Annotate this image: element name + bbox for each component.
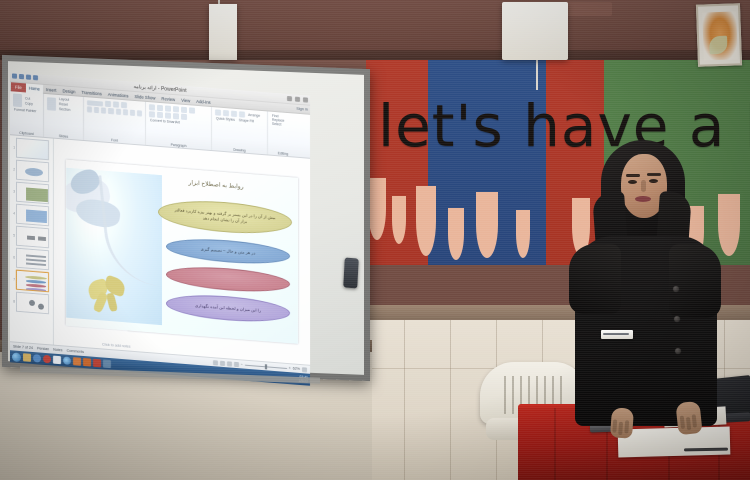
character-spacing-icon[interactable] [123,109,128,115]
section-button[interactable]: Section [58,107,71,112]
slide-thumbnail[interactable]: 4 [11,203,52,226]
quick-styles-button[interactable]: Quick Styles [215,116,236,122]
lamp-cord-large [536,56,538,90]
tab-file[interactable]: File [11,82,26,92]
notes-toggle[interactable]: Notes [53,348,62,353]
powerpoint-window[interactable]: ارائه برنامه - PowerPoint File Home Inse… [10,72,310,384]
finger [686,417,691,430]
increase-font-icon[interactable] [113,101,119,107]
slide-editing-stage[interactable]: روابط به اصطلاح ابزار بیش از آن را در ای… [54,139,310,365]
slide-bullet-ellipse-2[interactable]: در هر متن و حال – تصمیم گیری [166,235,290,267]
slide-thumbnail[interactable]: 8 [11,291,52,314]
nose [641,180,646,192]
powerpoint-icon[interactable] [83,358,91,367]
thumbnail-preview[interactable] [16,248,49,271]
minimize-icon[interactable] [287,96,292,101]
thumbnail-preview[interactable] [16,204,49,227]
slide-bullet-ellipse-4[interactable]: را این میزان و لحظه این آمده نگهداری [166,291,290,325]
pendant-lamp-large [502,2,568,60]
bullets-icon[interactable] [149,104,155,110]
copy-button[interactable]: Copy [24,101,34,106]
close-icon[interactable] [303,97,308,102]
ribbon-group-slides[interactable]: Layout Reset Section Slides [44,94,84,140]
underline-icon[interactable] [101,107,106,113]
hand-right [675,401,702,435]
ribbon-group-editing[interactable]: Find Replace Select Editing [268,111,298,156]
mouth [635,196,651,202]
chair-slat [512,376,514,414]
thumbnail-preview[interactable] [16,292,49,315]
start-orb-icon[interactable] [12,352,21,362]
slide-thumbnail[interactable]: 6 [11,247,52,270]
eyebrow-right [647,173,661,176]
media-player-icon[interactable] [33,354,41,363]
eye-left [628,180,637,184]
ribbon-group-clipboard[interactable]: Cut Copy Format Painter Clipboard [10,91,44,137]
select-button[interactable]: Select [271,122,295,128]
ribbon-group-drawing[interactable]: Arrange Quick Styles Shape Fill Drawing [212,107,268,154]
shoulder-left [569,244,621,314]
shape-oval-icon[interactable] [223,110,229,116]
fit-to-window-icon[interactable] [302,367,307,372]
thumbnail-preview[interactable] [16,270,49,293]
current-slide[interactable]: روابط به اصطلاح ابزار بیش از آن را در ای… [66,160,298,344]
coat-button [673,286,679,292]
photo-ribbon-curve [98,174,162,288]
mural-drip [516,210,530,258]
eye-right [649,179,658,183]
hand-left [610,407,634,438]
tablecloth-fold [554,408,556,480]
chrome-icon[interactable] [63,356,71,365]
thumbnail-number: 8 [11,299,15,303]
shoulder-right [669,244,721,318]
window-controls[interactable] [287,96,308,103]
decrease-indent-icon[interactable] [165,105,171,111]
thumbnail-number: 4 [11,211,15,215]
thumbnail-number: 1 [11,145,15,149]
shape-arrow-icon[interactable] [231,111,237,117]
language-indicator[interactable]: Persian [37,346,49,351]
cut-button[interactable]: Cut [24,96,34,101]
slide-bullet-ellipse-3[interactable] [166,263,290,295]
align-center-icon[interactable] [157,112,163,118]
eyebrow-left [626,174,640,177]
editor-body: 1 2 3 4 [10,135,310,365]
arrange-button[interactable]: Arrange [247,113,261,118]
save-icon[interactable] [12,73,17,78]
mural-drip [416,186,436,256]
mural-drip [448,208,464,260]
thumbnail-preview[interactable] [16,138,49,161]
interactive-whiteboard[interactable]: ارائه برنامه - PowerPoint File Home Inse… [2,55,370,381]
slide-background-photo [66,168,162,326]
zoom-out-icon[interactable]: − [241,362,243,366]
comments-toggle[interactable]: Comments [67,349,84,354]
quick-access-toolbar[interactable] [12,73,38,80]
slide-indicator: Slide 7 of 24 [13,344,33,350]
thumbnail-number: 2 [11,167,15,171]
ribbon-group-font[interactable]: Font [84,97,146,145]
italic-icon[interactable] [94,107,99,113]
shape-fill-button[interactable]: Shape Fill [238,118,255,123]
chair-slat [504,376,506,414]
word-icon[interactable] [53,356,61,365]
align-left-icon[interactable] [149,111,155,117]
finger [692,414,697,427]
slideshow-icon[interactable] [234,361,239,366]
new-slide-button[interactable] [47,97,56,111]
thumbnail-preview[interactable] [16,226,49,249]
line-spacing-icon[interactable] [181,107,187,113]
decrease-font-icon[interactable] [121,102,127,108]
slide-thumbnail[interactable]: 3 [11,181,52,204]
normal-view-icon[interactable] [213,360,218,365]
pendant-lamp-small [209,4,237,60]
align-right-icon[interactable] [165,112,171,118]
tab-view[interactable]: View [178,95,193,105]
tile-grout [404,320,405,480]
ribbon-group-paragraph[interactable]: Convert to SmartArt Paragraph [146,102,212,150]
slide-thumbnail[interactable]: 2 [11,159,52,182]
undo-icon[interactable] [19,74,24,79]
mural-drip [368,178,386,240]
finger [618,422,623,435]
badge-text-line [603,333,629,335]
finger [612,419,617,432]
coat-button [674,316,680,322]
finger [624,420,629,433]
shape-line-icon[interactable] [239,111,245,117]
slide-thumbnail[interactable]: 1 [11,137,52,160]
slide-thumbnail-selected[interactable]: 7 [11,269,52,292]
font-family-select[interactable] [87,100,103,106]
food-poster-frame [696,3,742,66]
opera-icon[interactable] [43,355,51,364]
shadow-icon[interactable] [108,108,113,114]
zoom-slider[interactable] [245,364,287,368]
text-direction-icon[interactable] [189,107,195,113]
thumbnail-preview[interactable] [16,160,49,183]
slide-thumbnail-panel[interactable]: 1 2 3 4 [10,135,54,344]
increase-indent-icon[interactable] [173,106,179,112]
notes-placeholder[interactable]: Click to add notes [102,342,131,348]
settings-icon[interactable] [103,360,111,369]
format-painter-button[interactable]: Format Painter [13,107,40,113]
acrobat-icon[interactable] [93,359,101,368]
coat-button [675,348,681,354]
photo-ribbon-bow [88,273,128,312]
female-presenter [565,140,725,440]
finger [680,416,685,429]
justify-icon[interactable] [173,113,179,119]
slide-bullet-ellipse-1[interactable]: بیش از آن را در این بستر بر گرفته و بهتر… [158,197,292,238]
thumbnail-number: 6 [11,255,15,259]
bold-icon[interactable] [87,106,92,112]
font-size-select[interactable] [105,101,111,107]
zoom-in-icon[interactable]: + [289,366,291,370]
thumbnail-number: 3 [11,189,15,193]
sign-in-link[interactable]: Sign in [296,107,308,112]
slide-sorter-icon[interactable] [220,360,225,365]
photoshop-icon[interactable] [73,357,81,366]
mural-drip [476,192,498,258]
classroom-presentation-photo: let's have a bite ارائه برنامه - PowerPo… [0,0,750,480]
customize-qat-icon[interactable] [33,75,38,80]
redo-icon[interactable] [26,74,31,79]
name-badge [601,330,633,339]
tile-grout [450,320,451,480]
mural-drip [392,196,406,244]
change-case-icon[interactable] [130,110,135,116]
zoom-level[interactable]: 62% [293,366,300,371]
strikethrough-icon[interactable] [116,109,121,115]
thumbnail-preview[interactable] [16,182,49,205]
slide-title[interactable]: روابط به اصطلاح ابزار [146,176,286,194]
shape-rect-icon[interactable] [215,109,221,115]
zoom-slider-knob[interactable] [265,364,267,369]
whiteboard-surface[interactable]: ارائه برنامه - PowerPoint File Home Inse… [8,61,364,375]
thumbnail-number: 7 [11,277,15,281]
thumbnail-number: 5 [11,233,15,237]
explorer-icon[interactable] [23,353,31,362]
paste-button[interactable] [13,93,22,107]
numbering-icon[interactable] [157,105,163,111]
columns-icon[interactable] [181,114,187,120]
bow-tail-right [106,293,118,312]
board-eraser[interactable] [343,257,359,288]
slide-thumbnail[interactable]: 5 [11,225,52,248]
maximize-icon[interactable] [295,97,300,102]
font-color-icon[interactable] [137,110,142,116]
reading-view-icon[interactable] [227,361,232,366]
